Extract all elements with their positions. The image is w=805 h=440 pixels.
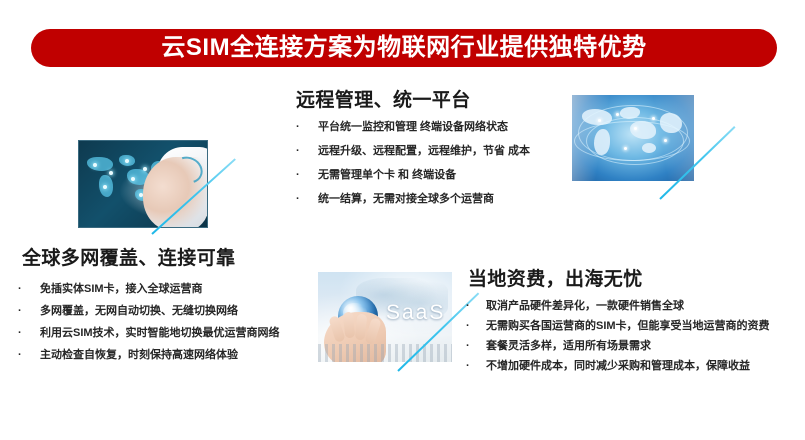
bullet-list-global-coverage: · 免插实体SIM卡，接入全球运营商 · 多网覆盖，无网自动切换、无缝切换网络 … <box>18 282 298 369</box>
list-item-text: 主动检查自恢复，时刻保持高速网络体验 <box>40 348 298 363</box>
list-item-text: 统一结算，无需对接全球多个运营商 <box>318 192 586 207</box>
list-item: · 平台统一监控和管理 终端设备网络状态 <box>296 120 586 135</box>
network-hologram-image <box>78 140 208 228</box>
title-banner: 云SIM全连接方案为物联网行业提供独特优势 <box>31 29 777 67</box>
bullet-marker: · <box>296 144 318 159</box>
city-skyline <box>318 344 452 362</box>
bullet-marker: · <box>296 120 318 135</box>
bullet-marker: · <box>466 359 486 374</box>
list-item-text: 免插实体SIM卡，接入全球运营商 <box>40 282 298 297</box>
bullet-list-remote-management: · 平台统一监控和管理 终端设备网络状态 · 远程升级、远程配置，远程维护，节省… <box>296 120 586 215</box>
heading-global-coverage: 全球多网覆盖、连接可靠 <box>22 243 235 270</box>
list-item-text: 多网覆盖，无网自动切换、无缝切换网络 <box>40 304 298 319</box>
heading-local-pricing: 当地资费，出海无忧 <box>468 264 643 291</box>
bullet-marker: · <box>18 282 40 297</box>
list-item-text: 无需管理单个卡 和 终端设备 <box>318 168 586 183</box>
list-item: · 远程升级、远程配置，远程维护，节省 成本 <box>296 144 586 159</box>
bullet-marker: · <box>466 319 486 334</box>
list-item-text: 平台统一监控和管理 终端设备网络状态 <box>318 120 586 135</box>
list-item: · 套餐灵活多样，适用所有场景需求 <box>466 339 796 354</box>
list-item-text: 套餐灵活多样，适用所有场景需求 <box>486 339 796 354</box>
list-item-text: 无需购买各国运营商的SIM卡，但能享受当地运营商的资费 <box>486 319 796 334</box>
saas-globe-image: SaaS <box>318 272 452 362</box>
list-item: · 取消产品硬件差异化，一款硬件销售全球 <box>466 299 796 314</box>
list-item-text: 利用云SIM技术，实时智能地切换最优运营商网络 <box>40 326 298 341</box>
list-item: · 无需购买各国运营商的SIM卡，但能享受当地运营商的资费 <box>466 319 796 334</box>
list-item: · 免插实体SIM卡，接入全球运营商 <box>18 282 298 297</box>
bullet-marker: · <box>296 168 318 183</box>
world-map-image <box>572 95 694 181</box>
bullet-marker: · <box>18 326 40 341</box>
bullet-marker: · <box>18 348 40 363</box>
list-item: · 无需管理单个卡 和 终端设备 <box>296 168 586 183</box>
bullet-marker: · <box>18 304 40 319</box>
list-item: · 不增加硬件成本，同时减少采购和管理成本，保障收益 <box>466 359 796 374</box>
list-item: · 利用云SIM技术，实时智能地切换最优运营商网络 <box>18 326 298 341</box>
bullet-marker: · <box>466 299 486 314</box>
bullet-marker: · <box>296 192 318 207</box>
list-item-text: 远程升级、远程配置，远程维护，节省 成本 <box>318 144 586 159</box>
page-title: 云SIM全连接方案为物联网行业提供独特优势 <box>161 36 646 60</box>
bullet-marker: · <box>466 339 486 354</box>
list-item-text: 不增加硬件成本，同时减少采购和管理成本，保障收益 <box>486 359 796 374</box>
bullet-list-local-pricing: · 取消产品硬件差异化，一款硬件销售全球 · 无需购买各国运营商的SIM卡，但能… <box>466 299 796 378</box>
list-item-text: 取消产品硬件差异化，一款硬件销售全球 <box>486 299 796 314</box>
list-item: · 主动检查自恢复，时刻保持高速网络体验 <box>18 348 298 363</box>
saas-caption: SaaS <box>386 302 445 323</box>
list-item: · 多网覆盖，无网自动切换、无缝切换网络 <box>18 304 298 319</box>
list-item: · 统一结算，无需对接全球多个运营商 <box>296 192 586 207</box>
slide-canvas: 云SIM全连接方案为物联网行业提供独特优势 <box>0 0 805 440</box>
heading-remote-management: 远程管理、统一平台 <box>296 85 471 112</box>
